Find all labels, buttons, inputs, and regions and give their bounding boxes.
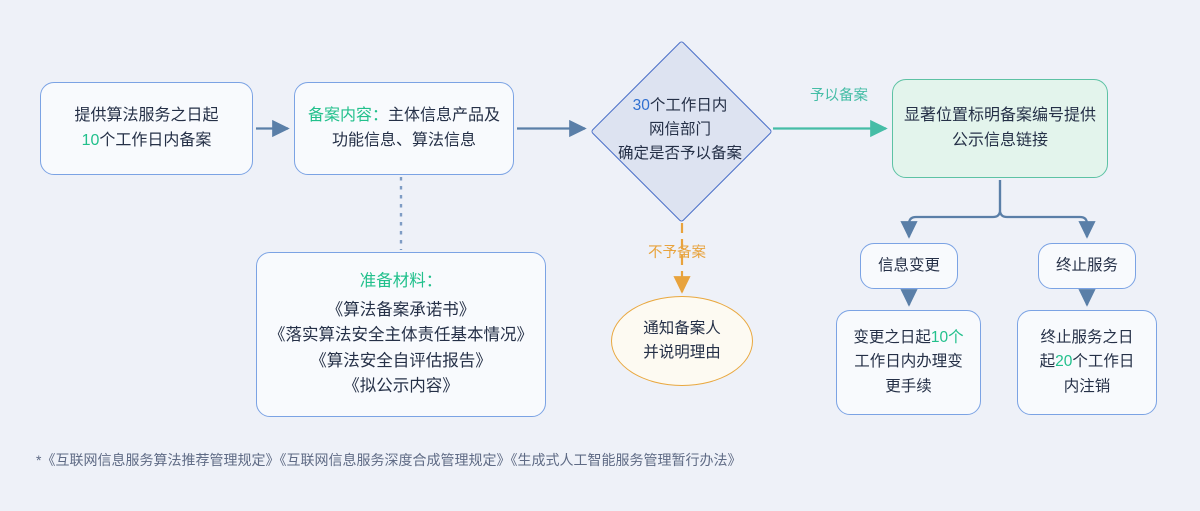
node-terminate-detail-days: 20 <box>1055 353 1072 370</box>
node-publicize[interactable]: 显著位置标明备案编号提供 公示信息链接 <box>892 79 1108 178</box>
node-start-line2: 10个工作日内备案 <box>82 129 212 154</box>
node-terminate-detail-post: 个工作日 <box>1072 353 1134 370</box>
node-decision[interactable]: 30个工作日内 网信部门 确定是否予以备案 <box>590 40 770 220</box>
edge-label-approve: 予以备案 <box>810 84 868 105</box>
node-materials[interactable]: 准备材料： 《算法备案承诺书》 《落实算法安全主体责任基本情况》 《算法安全自评… <box>256 252 546 417</box>
node-terminate-label: 终止服务 <box>1056 254 1118 278</box>
edge-label-reject: 不予备案 <box>648 241 706 262</box>
node-content-line1-rest: 主体信息产品及 <box>388 107 500 124</box>
list-item: 《算法备案承诺书》 <box>327 298 476 324</box>
node-decision-line2: 网信部门 <box>649 118 711 142</box>
node-change-label: 信息变更 <box>878 254 940 278</box>
node-terminate-detail[interactable]: 终止服务之日 起20个工作日 内注销 <box>1017 310 1157 415</box>
node-change-detail-days: 10 <box>931 329 948 346</box>
node-decision-line3: 确定是否予以备案 <box>618 142 742 166</box>
node-notify-line2: 并说明理由 <box>643 341 721 365</box>
node-change-detail-line3: 更手续 <box>885 375 932 399</box>
node-terminate-detail-line2: 起20个工作日 <box>1040 350 1135 374</box>
flowchart-canvas: 提供算法服务之日起 10个工作日内备案 备案内容：主体信息产品及 功能信息、算法… <box>0 0 1200 511</box>
node-terminate-detail-line3: 内注销 <box>1064 375 1111 399</box>
node-start-line2-rest: 个工作日内备案 <box>99 132 211 149</box>
node-terminate-detail-pre: 起 <box>1040 353 1056 370</box>
list-item: 《算法安全自评估报告》 <box>310 349 492 375</box>
node-notify-applicant[interactable]: 通知备案人 并说明理由 <box>611 296 753 386</box>
decision-text: 30个工作日内 网信部门 确定是否予以备案 <box>590 40 770 220</box>
node-terminate-service[interactable]: 终止服务 <box>1038 243 1136 289</box>
node-filing-content[interactable]: 备案内容：主体信息产品及 功能信息、算法信息 <box>294 82 514 175</box>
edge-publicize-to-terminate <box>1000 180 1087 237</box>
node-notify-line1: 通知备案人 <box>643 317 721 341</box>
footnote-regulations: *《互联网信息服务算法推荐管理规定》《互联网信息服务深度合成管理规定》《生成式人… <box>36 450 741 470</box>
node-content-label: 备案内容： <box>308 107 388 124</box>
node-materials-title: 准备材料： <box>360 269 443 295</box>
list-item: 《拟公示内容》 <box>343 374 459 400</box>
node-decision-days: 30 <box>633 97 650 114</box>
node-change-detail-pre: 变更之日起 <box>853 329 931 346</box>
node-change-detail[interactable]: 变更之日起10个 工作日内办理变 更手续 <box>836 310 981 415</box>
edge-publicize-to-change <box>909 180 1000 237</box>
node-change-detail-line2: 工作日内办理变 <box>854 350 963 374</box>
list-item: 《落实算法安全主体责任基本情况》 <box>269 323 533 349</box>
node-info-change[interactable]: 信息变更 <box>860 243 958 289</box>
node-terminate-detail-line1: 终止服务之日 <box>1040 326 1133 350</box>
node-start-line1: 提供算法服务之日起 <box>74 104 218 129</box>
node-publicize-line2: 公示信息链接 <box>952 129 1048 154</box>
node-start-days: 10 <box>82 132 100 149</box>
node-start[interactable]: 提供算法服务之日起 10个工作日内备案 <box>40 82 253 175</box>
node-publicize-line1: 显著位置标明备案编号提供 <box>904 104 1096 129</box>
node-decision-line1-rest: 个工作日内 <box>650 97 728 114</box>
node-content-line2: 功能信息、算法信息 <box>332 129 476 154</box>
node-decision-line1: 30个工作日内 <box>633 94 728 118</box>
node-change-detail-post: 个 <box>948 329 964 346</box>
node-content-line1: 备案内容：主体信息产品及 <box>308 104 500 129</box>
node-change-detail-line1: 变更之日起10个 <box>853 326 963 350</box>
